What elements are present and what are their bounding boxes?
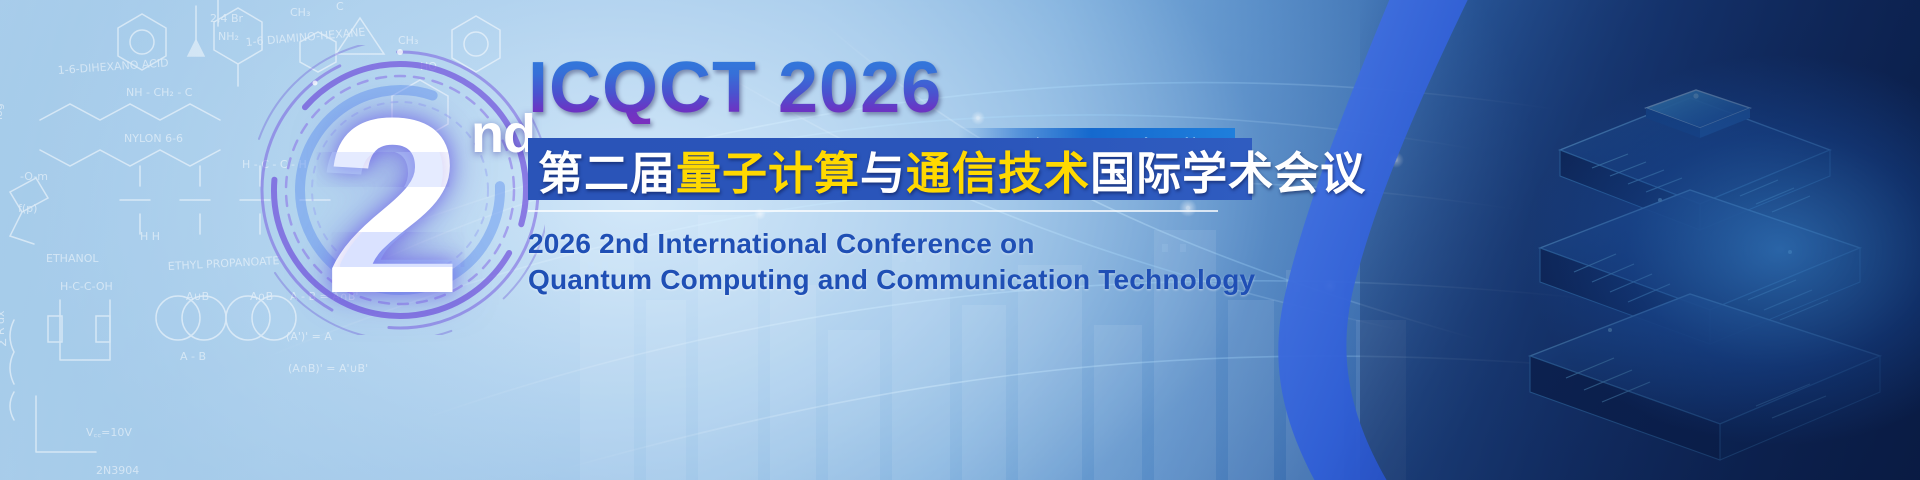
english-title: 2026 2nd International Conference on Qua…: [528, 226, 1268, 298]
divider-rule: [528, 210, 1218, 212]
conference-banner: 1-6-DIHEXANO ACID 1-6 DIAMINO-HEXANE NH …: [0, 0, 1920, 480]
chinese-title: 第二届量子计算与通信技术国际学术会议: [528, 137, 1366, 202]
second-edition-emblem: 2 nd: [255, 45, 545, 335]
emblem-ordinal-suffix: nd: [471, 103, 535, 165]
cn-part-2: 与: [860, 148, 906, 199]
conference-acronym-title: ICQCT 2026: [528, 52, 942, 124]
cn-part-1: 量子计算: [676, 148, 860, 199]
english-title-line-2: Quantum Computing and Communication Tech…: [528, 262, 1268, 298]
cn-part-4: 国际学术会议: [1090, 148, 1366, 199]
emblem-number-wrap: 2: [255, 45, 545, 335]
english-title-line-1: 2026 2nd International Conference on: [528, 226, 1268, 262]
banner-text-content: ICQCT 2026 2026年8月7-9日 中国·杭州 第二届量子计算与通信技…: [528, 52, 1268, 298]
cn-part-3: 通信技术: [906, 148, 1090, 199]
emblem-number: 2: [323, 81, 456, 331]
cn-part-0: 第二届: [538, 148, 676, 199]
chinese-title-band: 第二届量子计算与通信技术国际学术会议: [528, 138, 1252, 200]
